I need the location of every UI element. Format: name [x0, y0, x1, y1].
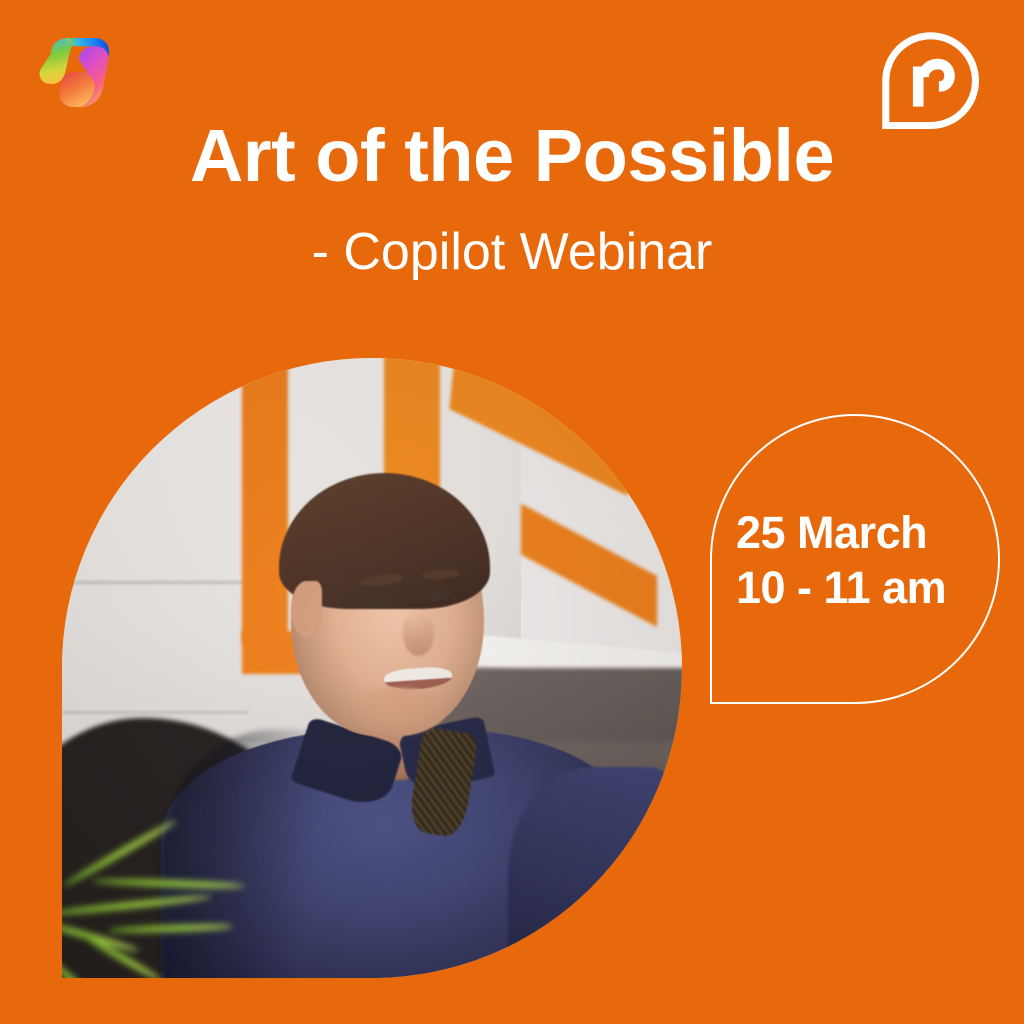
date-badge-time: 10 - 11 am [736, 561, 986, 616]
brand-bubble-outline [886, 36, 976, 126]
speaker-photo-image [62, 358, 682, 978]
microsoft-copilot-logo [28, 26, 120, 118]
webinar-promo-poster: Art of the Possible - Copilot Webinar [0, 0, 1024, 1024]
page-title: Art of the Possible [0, 119, 1024, 193]
brand-r-shoulder [924, 64, 950, 86]
date-badge-text: 25 March 10 - 11 am [736, 506, 986, 616]
date-badge: 25 March 10 - 11 am [710, 414, 1000, 704]
date-badge-date: 25 March [736, 506, 986, 561]
photo-color-grade [62, 358, 682, 978]
page-subtitle: - Copilot Webinar [0, 226, 1024, 278]
speaker-photo [62, 358, 682, 978]
